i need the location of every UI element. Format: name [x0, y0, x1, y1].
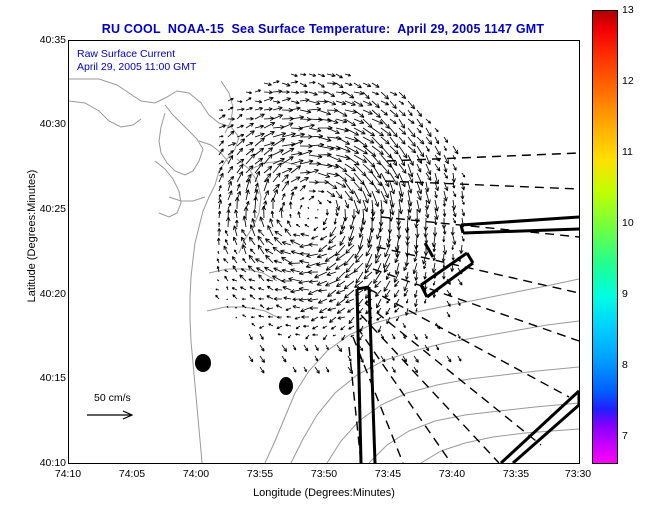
y-tick-label: 40:35	[20, 34, 66, 46]
current-vector-field	[216, 73, 465, 373]
map-plot-area: Raw Surface Current April 29, 2005 11:00…	[68, 40, 580, 464]
colorbar-tick-label: 11	[622, 146, 633, 158]
annotation-raw-surface-current: Raw Surface Current	[77, 48, 175, 61]
colorbar-tick-label: 9	[622, 288, 628, 300]
map-canvas	[69, 41, 579, 463]
x-tick-label: 73:45	[365, 468, 411, 480]
scale-bar-label: 50 cm/s	[94, 392, 131, 404]
x-tick-label: 73:55	[237, 468, 283, 480]
colorbar-tick-label: 8	[622, 359, 628, 371]
solid-beam-group	[357, 217, 579, 463]
colorbar-tick-label: 10	[622, 217, 634, 229]
x-axis-label: Longitude (Degrees:Minutes)	[68, 487, 580, 499]
colorbar-gradient	[593, 11, 617, 463]
station-dot-1	[195, 354, 211, 372]
x-tick-label: 74:05	[109, 468, 155, 480]
x-tick-label: 73:30	[555, 468, 601, 480]
x-tick-label: 73:40	[429, 468, 475, 480]
figure-root: RU COOL NOAA-15 Sea Surface Temperature:…	[0, 0, 651, 515]
colorbar-tick-label: 13	[622, 4, 634, 16]
x-tick-label: 73:35	[493, 468, 539, 480]
scale-bar-arrow	[87, 411, 132, 419]
colorbar-tick-label: 12	[622, 75, 634, 87]
colorbar	[592, 10, 618, 464]
current-vector-paths	[216, 73, 465, 373]
dashed-beam-group	[349, 153, 579, 463]
x-tick-label: 74:00	[173, 468, 219, 480]
y-axis-label: Latitude (Degrees:Minutes)	[26, 56, 38, 416]
colorbar-tick-label: 7	[622, 430, 628, 442]
coastline-group	[69, 79, 579, 463]
x-tick-label: 73:50	[301, 468, 347, 480]
station-dot-2	[279, 377, 293, 395]
annotation-datetime: April 29, 2005 11:00 GMT	[77, 61, 196, 74]
x-tick-label: 74:10	[45, 468, 91, 480]
chart-title: RU COOL NOAA-15 Sea Surface Temperature:…	[68, 22, 578, 36]
